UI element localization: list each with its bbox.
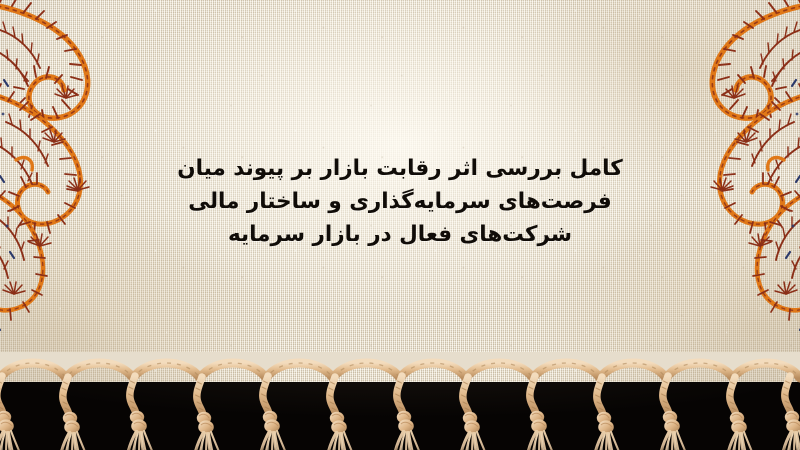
title-line-1: کامل بررسی اثر رقابت بازار بر پیوند میان: [170, 152, 630, 185]
title-block: کامل بررسی اثر رقابت بازار بر پیوند میان…: [0, 152, 800, 251]
title-card-stage: کامل بررسی اثر رقابت بازار بر پیوند میان…: [0, 0, 800, 450]
title-line-3: شرکت‌های فعال در بازار سرمایه: [170, 218, 630, 251]
title-line-2: فرصت‌های سرمایه‌گذاری و ساختار مالی: [170, 185, 630, 218]
